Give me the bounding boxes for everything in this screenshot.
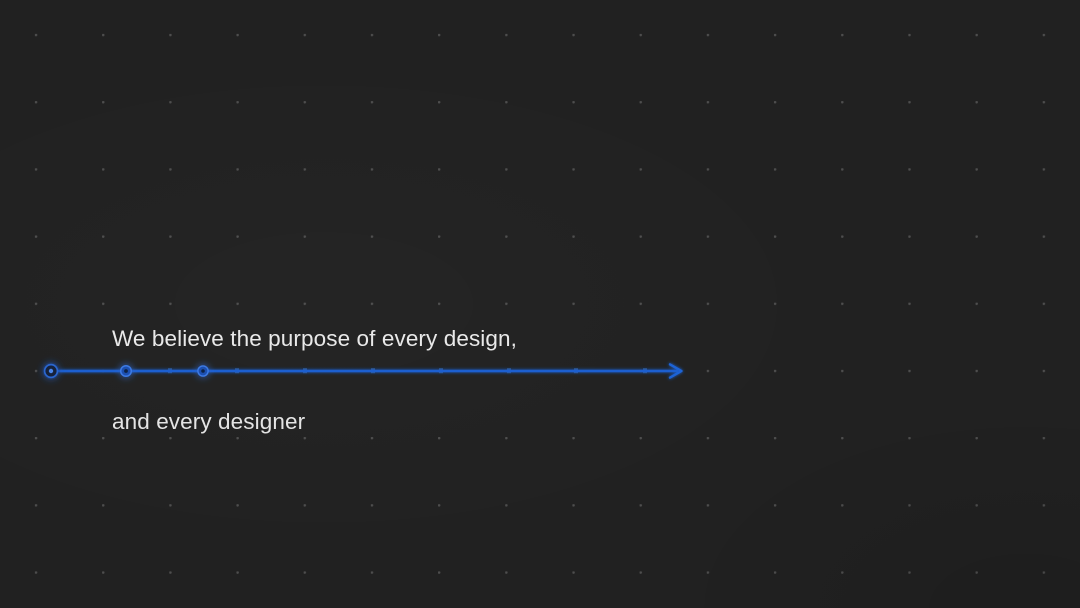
timeline-axis-group — [58, 364, 682, 377]
timeline-marker-milestone-2[interactable] — [198, 366, 208, 376]
timeline-marker-current[interactable] — [42, 362, 59, 379]
slide-canvas: We believe the purpose of every design, … — [0, 0, 1080, 608]
timeline-progress[interactable] — [0, 344, 1080, 398]
timeline-svg — [0, 344, 1080, 398]
timeline-marker-milestone-1[interactable] — [121, 366, 132, 377]
headline-line-2: and every designer — [112, 408, 812, 436]
